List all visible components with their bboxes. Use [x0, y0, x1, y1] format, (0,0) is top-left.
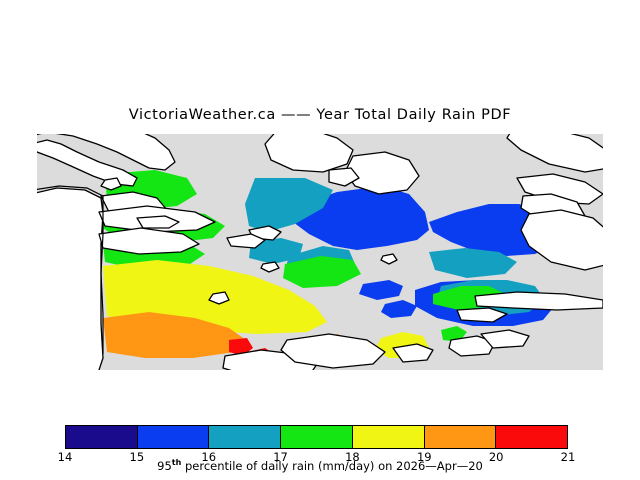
- caption-ordinal-suffix: th: [172, 458, 182, 467]
- colorbar-segment-18-19: [353, 426, 425, 448]
- colorbar-segment-20-21: [496, 426, 567, 448]
- colorbar-segment-17-18: [281, 426, 353, 448]
- caption-percentile-number: 95: [157, 459, 172, 473]
- colorbar-segment-15-16: [138, 426, 210, 448]
- map-svg: [37, 134, 603, 370]
- land-southwest-coast: [37, 188, 103, 370]
- page-title: VictoriaWeather.ca —— Year Total Daily R…: [0, 107, 640, 123]
- colorbar: [65, 425, 568, 449]
- map-plot-area: [37, 134, 603, 370]
- colorbar-caption: 95th percentile of daily rain (mm/day) o…: [0, 458, 640, 473]
- figure-canvas: VictoriaWeather.ca —— Year Total Daily R…: [0, 0, 640, 480]
- colorbar-segment-19-20: [425, 426, 497, 448]
- colorbar-segments: [65, 425, 568, 449]
- caption-description: percentile of daily rain (mm/day) on 202…: [181, 459, 483, 473]
- colorbar-segment-16-17: [209, 426, 281, 448]
- colorbar-segment-14-15: [66, 426, 138, 448]
